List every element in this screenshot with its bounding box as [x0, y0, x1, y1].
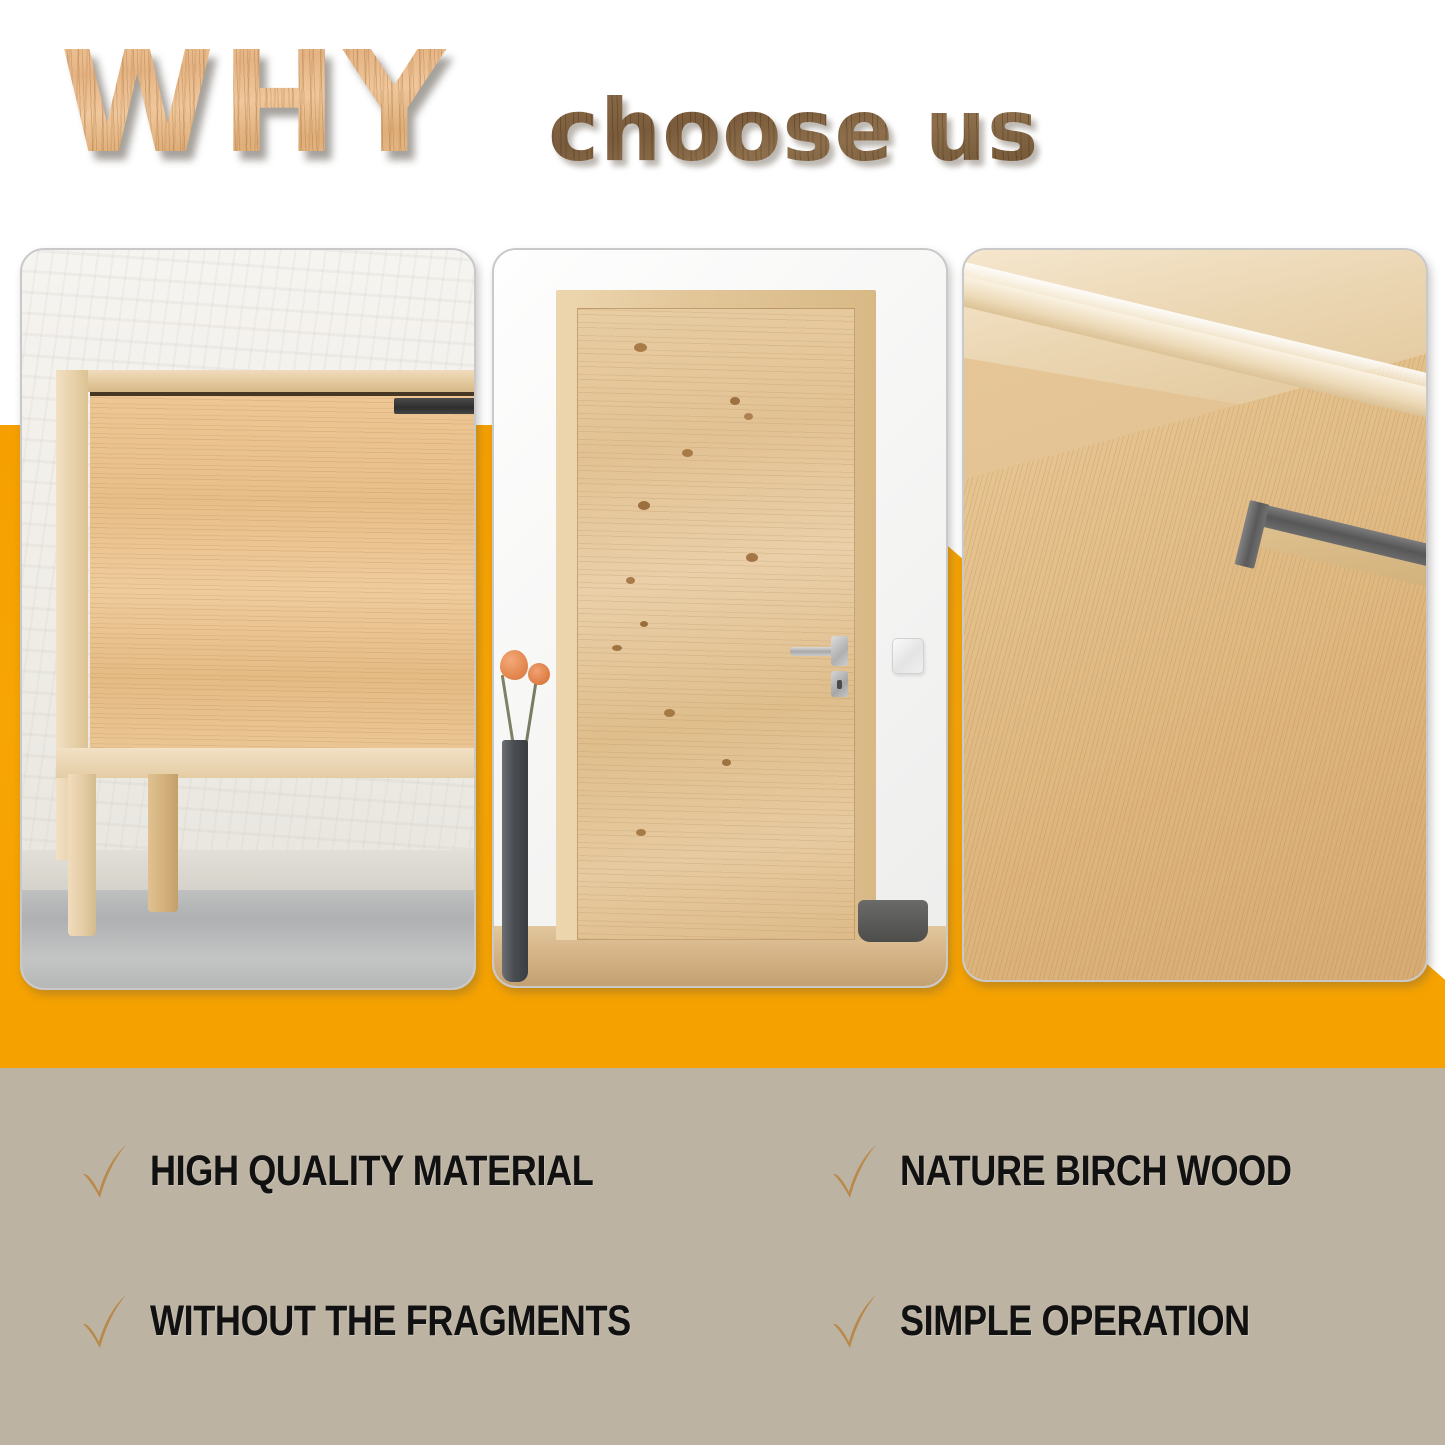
cabinet-frame-top [56, 370, 476, 392]
door-keyhole [837, 680, 842, 689]
feature-item-without-the-fragments: WITHOUT THE FRAGMENTS [78, 1290, 722, 1352]
wood-knot [640, 621, 648, 627]
feature-label: WITHOUT THE FRAGMENTS [150, 1297, 631, 1346]
wood-knot [744, 413, 753, 420]
wood-knot [634, 343, 647, 352]
wood-knot [626, 577, 635, 584]
oak-door-leaf [577, 308, 855, 940]
cabinet-handle [394, 398, 476, 414]
cabinet-frame-bottom [56, 748, 476, 778]
check-icon [828, 1140, 882, 1202]
wood-knot [746, 553, 758, 562]
header: WHY choose us [0, 0, 1445, 222]
floor-vase [502, 740, 528, 982]
poppy-flower [528, 663, 550, 685]
cabinet-leg-left [68, 774, 96, 936]
gallery-panel-oak-door[interactable] [492, 248, 948, 988]
wood-knot [636, 829, 646, 836]
check-icon [828, 1290, 882, 1352]
gallery-panel-birch-nightstand[interactable] [20, 248, 476, 990]
page-title-primary: WHY [60, 34, 451, 174]
infographic-canvas: WHY choose us [0, 0, 1445, 1445]
cabinet-door-panel [90, 396, 476, 748]
wood-knot [638, 501, 650, 510]
wood-knot [612, 645, 622, 651]
feature-item-nature-birch-wood: NATURE BIRCH WOOD [828, 1140, 1366, 1202]
wood-knot [664, 709, 675, 717]
wood-knot [682, 449, 693, 457]
feature-item-high-quality-material: HIGH QUALITY MATERIAL [78, 1140, 678, 1202]
check-icon [78, 1290, 132, 1352]
check-icon [78, 1140, 132, 1202]
gallery-panel-drawer-edge[interactable] [962, 248, 1428, 982]
poppy-flower [500, 650, 528, 680]
floor-object [858, 900, 928, 942]
features-background [0, 1068, 1445, 1445]
light-switch [892, 638, 924, 674]
feature-label: SIMPLE OPERATION [900, 1297, 1250, 1346]
wood-knot [722, 759, 731, 766]
page-title-secondary: choose us [548, 88, 1039, 174]
handle-rosette [831, 636, 848, 666]
feature-item-simple-operation: SIMPLE OPERATION [828, 1290, 1316, 1352]
feature-label: HIGH QUALITY MATERIAL [150, 1147, 593, 1196]
cabinet-leg-right [148, 774, 178, 912]
wood-knot [730, 397, 740, 405]
feature-label: NATURE BIRCH WOOD [900, 1147, 1291, 1196]
